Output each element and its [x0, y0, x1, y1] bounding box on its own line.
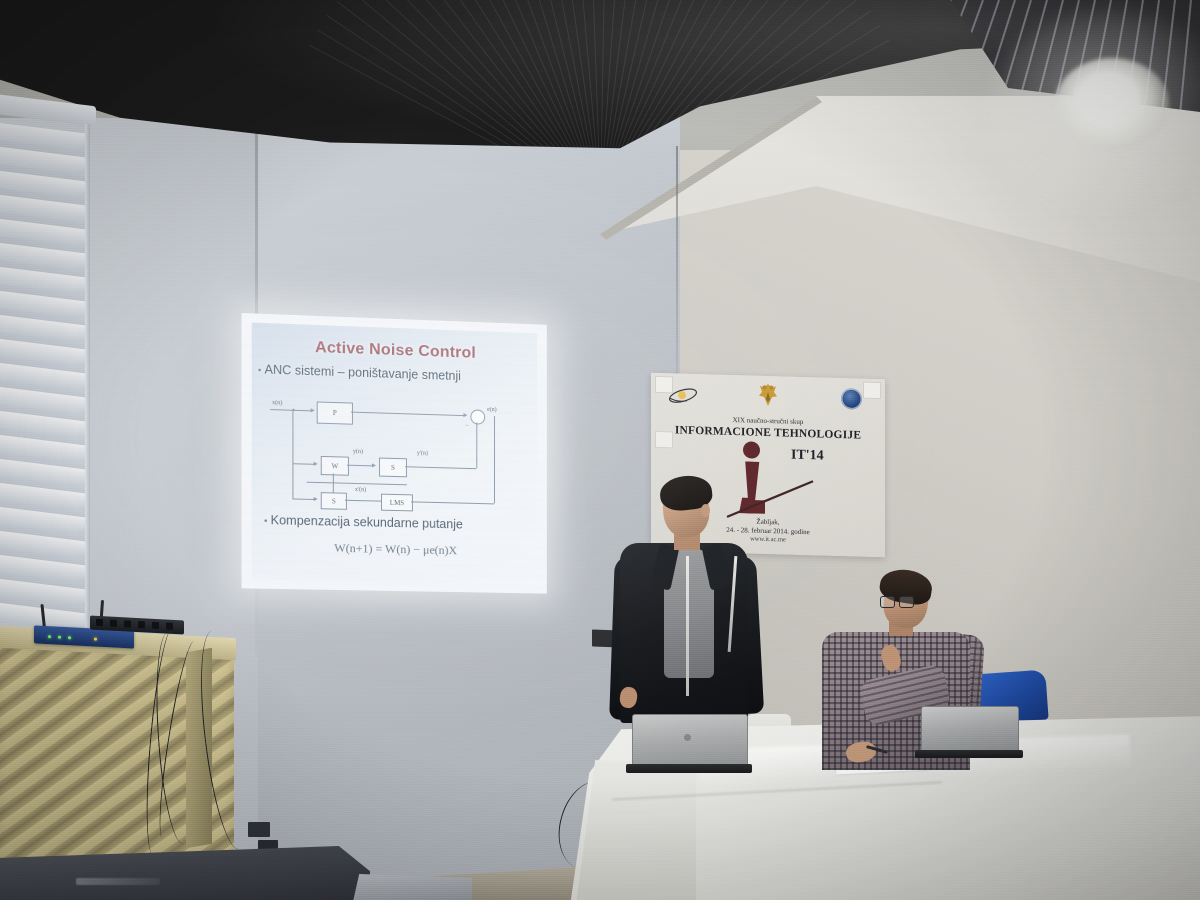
- projection-screen: Active Noise Control •ANC sistemi – poni…: [242, 313, 547, 594]
- university-seal-logo-icon: [841, 388, 862, 410]
- blind-track: [85, 124, 90, 644]
- coat-of-arms-logo-icon: [757, 382, 779, 409]
- laptop-foreground-secondary[interactable]: [352, 874, 472, 900]
- slide-bullet-2-text: Kompenzacija sekundarne putanje: [271, 513, 463, 531]
- poster-i-dot-mark: [743, 441, 760, 458]
- window-blinds[interactable]: [0, 122, 90, 634]
- diagram-summing-junction: [470, 409, 485, 424]
- slide-title: Active Noise Control: [252, 337, 537, 365]
- attendee-eyeglasses-icon: [880, 596, 913, 607]
- diagram-block-W: W: [321, 456, 349, 476]
- diagram-signal-y: y(n): [353, 449, 363, 455]
- poster-tape-top-right: [863, 382, 881, 400]
- diagram-sign-minus: −: [465, 423, 468, 429]
- diagram-error-label: e(n): [487, 407, 497, 413]
- presenter-ear: [701, 504, 710, 517]
- ceiling-light-icon: [1055, 58, 1169, 150]
- laptop-foreground-logo: [76, 878, 160, 885]
- floor-socket-plate[interactable]: [248, 822, 270, 837]
- diagram-block-P: P: [317, 401, 353, 424]
- diagram-signal-xprime: x'(n): [355, 487, 366, 493]
- presenter-zipper: [686, 556, 689, 696]
- slide-bullet-1: •ANC sistemi – poništavanje smetnji: [258, 362, 537, 386]
- diagram-block-S: S: [379, 458, 407, 478]
- slide-bullet-1-text: ANC sistemi – poništavanje smetnji: [265, 362, 461, 383]
- photo-scene: Active Noise Control •ANC sistemi – poni…: [0, 0, 1200, 900]
- poster-edition: IT'14: [791, 448, 824, 465]
- tablecloth-drop: [576, 760, 696, 900]
- bullet-marker-icon-2: •: [264, 516, 268, 527]
- diagram-block-LMS: LMS: [381, 494, 413, 512]
- diagram-signal-yprime: y'(n): [417, 451, 428, 457]
- diagram-input-label: x(n): [272, 400, 282, 406]
- anc-block-diagram: x(n) P e(n) − W y(n) S y'(n): [266, 398, 537, 518]
- bullet-marker-icon: •: [258, 365, 262, 376]
- slide-bullet-2: •Kompenzacija sekundarne putanje: [264, 513, 463, 532]
- wall-corner-seam: [676, 146, 678, 406]
- presentation-slide: Active Noise Control •ANC sistemi – poni…: [252, 323, 537, 585]
- orbit-logo-icon: [667, 385, 699, 406]
- diagram-block-Shat: S: [321, 492, 347, 510]
- poster-ski-mark-icon: [723, 475, 817, 524]
- slide-formula: W(n+1) = W(n) − μe(n)X: [252, 539, 537, 560]
